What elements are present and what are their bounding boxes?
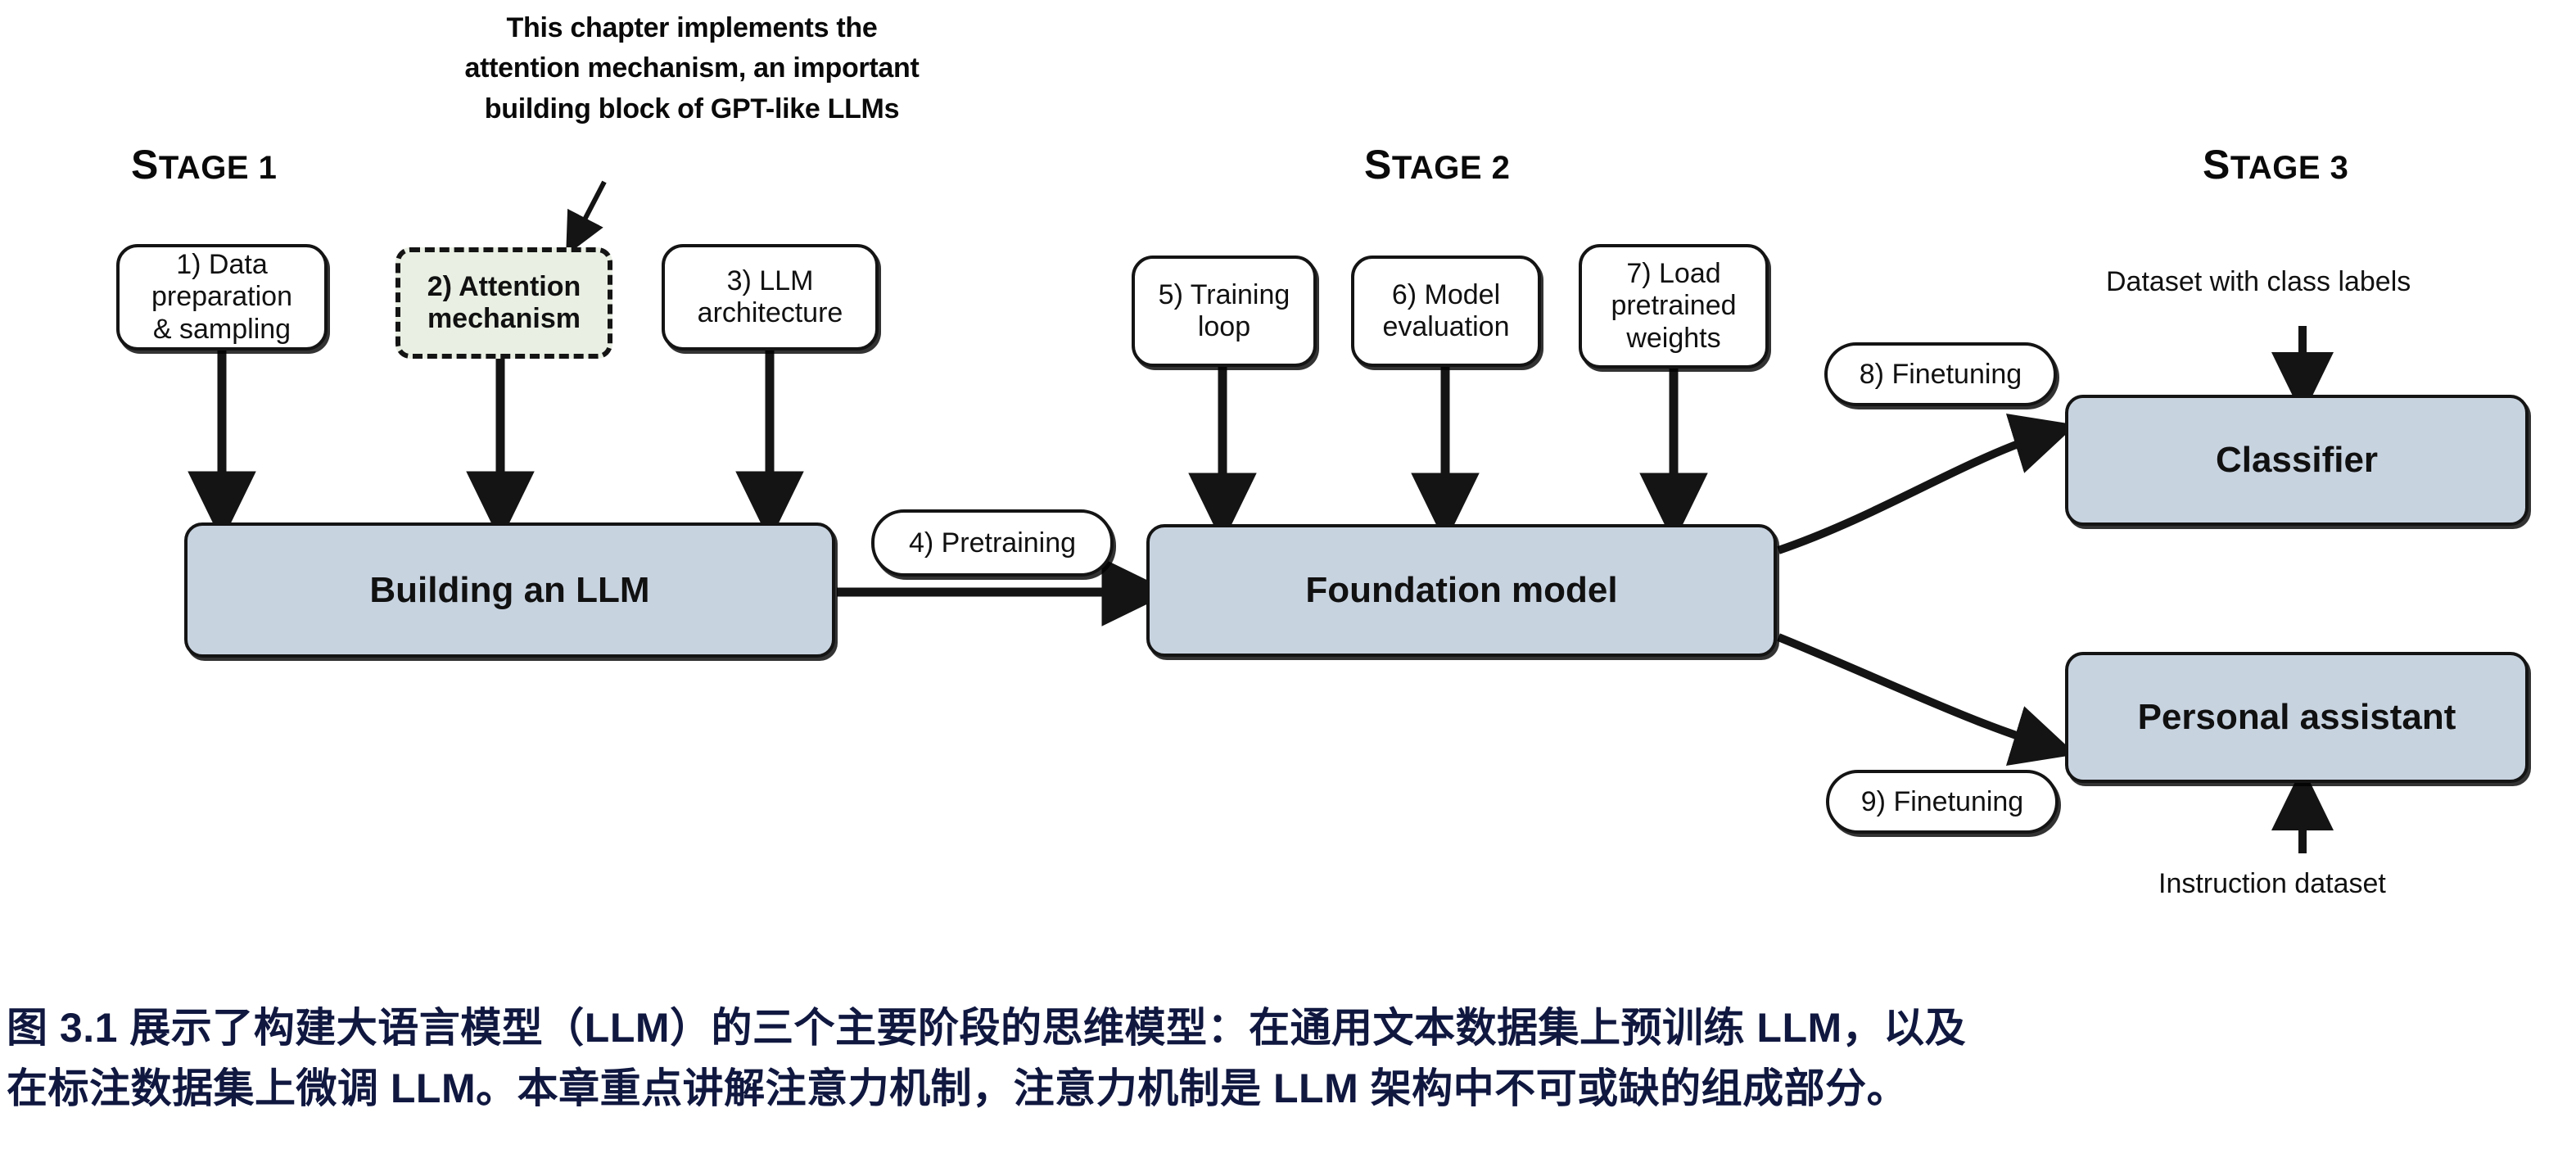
- transition-pill-pretraining[interactable]: 4) Pretraining: [871, 509, 1114, 577]
- transition-pill-finetuning-assistant[interactable]: 9) Finetuning: [1826, 770, 2059, 834]
- step-box-attention-mechanism[interactable]: 2) Attention mechanism: [395, 247, 612, 359]
- arrow-foundation-to-classifier: [1778, 432, 2051, 550]
- step-box-model-evaluation[interactable]: 6) Model evaluation: [1351, 256, 1541, 367]
- stage-1-heading-rest: TAGE 1: [159, 150, 278, 186]
- arrow-foundation-to-assistant: [1778, 637, 2051, 747]
- stage-1-heading-cap: S: [131, 142, 159, 188]
- stage-1-heading: STAGE 1: [131, 141, 277, 188]
- label-dataset-with-class-labels: Dataset with class labels: [2106, 266, 2411, 298]
- label-instruction-dataset: Instruction dataset: [2158, 868, 2386, 900]
- caption-line-2: 在标注数据集上微调 LLM。本章重点讲解注意力机制，注意力机制是 LLM 架构中…: [7, 1058, 2569, 1119]
- stage-2-heading-rest: TAGE 2: [1392, 150, 1511, 186]
- stage-2-heading-cap: S: [1364, 142, 1392, 188]
- callout-arrow: [573, 182, 604, 242]
- outcome-box-building-an-llm[interactable]: Building an LLM: [184, 522, 835, 658]
- chapter-callout: This chapter implements the attention me…: [459, 8, 925, 129]
- step-box-llm-architecture[interactable]: 3) LLM architecture: [662, 244, 879, 351]
- outcome-box-personal-assistant[interactable]: Personal assistant: [2065, 652, 2529, 783]
- outcome-box-classifier[interactable]: Classifier: [2065, 395, 2529, 526]
- figure-caption: 图 3.1 展示了构建大语言模型（LLM）的三个主要阶段的思维模型：在通用文本数…: [7, 997, 2569, 1119]
- stage-3-heading-cap: S: [2203, 142, 2230, 188]
- step-box-data-preparation[interactable]: 1) Data preparation & sampling: [116, 244, 328, 351]
- stage-3-heading-rest: TAGE 3: [2230, 150, 2349, 186]
- caption-line-1: 图 3.1 展示了构建大语言模型（LLM）的三个主要阶段的思维模型：在通用文本数…: [7, 997, 2569, 1058]
- stage-3-heading: STAGE 3: [2203, 141, 2348, 188]
- step-box-training-loop[interactable]: 5) Training loop: [1132, 256, 1317, 367]
- outcome-box-foundation-model[interactable]: Foundation model: [1146, 524, 1777, 657]
- step-box-load-pretrained-weights[interactable]: 7) Load pretrained weights: [1579, 244, 1769, 369]
- stage-2-heading: STAGE 2: [1364, 141, 1510, 188]
- figure-diagram: This chapter implements the attention me…: [0, 0, 2576, 983]
- transition-pill-finetuning-classifier[interactable]: 8) Finetuning: [1824, 342, 2057, 406]
